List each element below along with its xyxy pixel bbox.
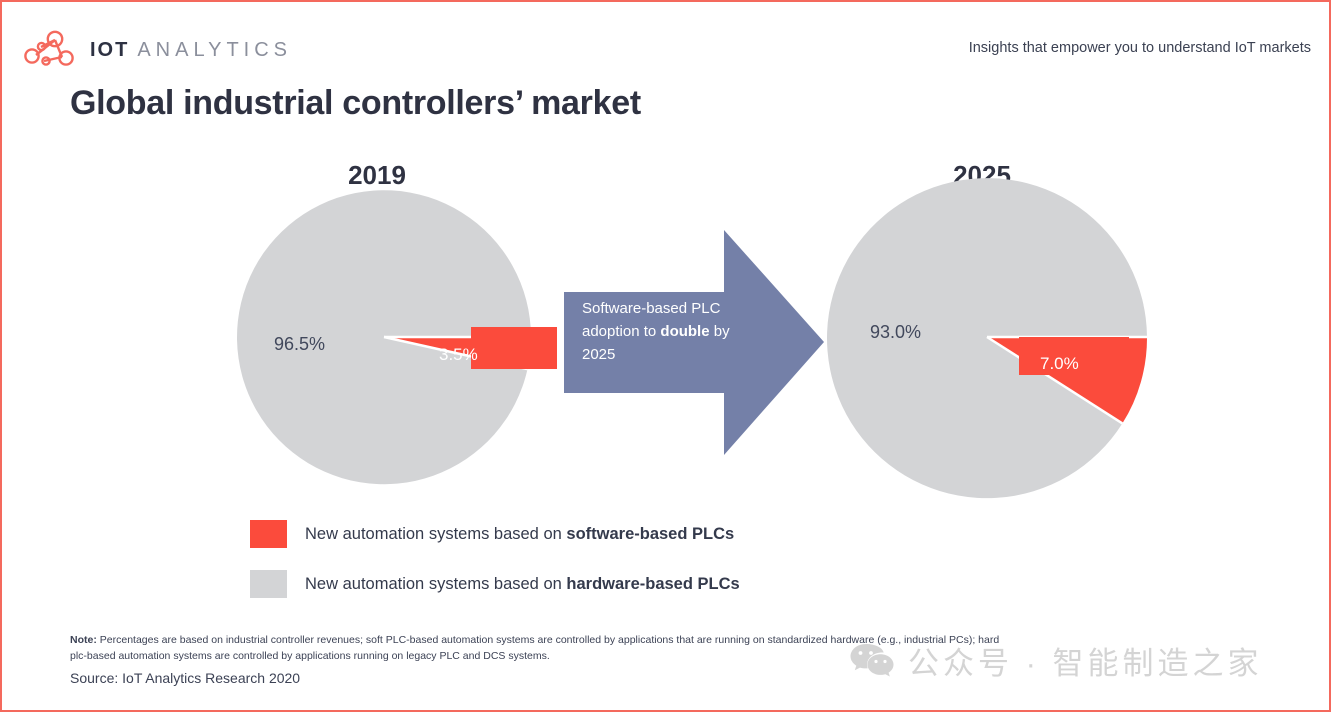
pie-value-software-2025: 7.0% <box>1040 354 1079 374</box>
arrow-line-2-post: by <box>710 323 730 340</box>
arrow-line-3: 2025 <box>582 346 615 363</box>
slide-header: IOTANALYTICS Insights that empower you t… <box>2 2 1329 80</box>
slide-canvas: IOTANALYTICS Insights that empower you t… <box>0 0 1331 712</box>
logo-analytics-text: ANALYTICS <box>137 39 292 61</box>
arrow-line-2-bold: double <box>660 323 709 340</box>
footnote-note-label: Note: <box>70 634 97 646</box>
page-title: Global industrial controllers’ market <box>70 84 641 123</box>
legend-software-bold: software-based PLCs <box>566 525 734 543</box>
arrow-line-2-pre: adoption to <box>582 323 660 340</box>
legend-swatch-hardware <box>250 570 287 598</box>
watermark-text: 公众号 · 智能制造之家 <box>908 638 1263 683</box>
legend-item-software: New automation systems based on software… <box>250 514 740 554</box>
chart-area: 2019 96.5% 3.5% Software-based PLC adopt… <box>2 142 1329 517</box>
header-tagline: Insights that empower you to understand … <box>969 40 1311 56</box>
legend-software-pre: New automation systems based on <box>305 525 566 543</box>
pie-value-hardware-2025: 93.0% <box>870 322 921 343</box>
legend-item-hardware: New automation systems based on hardware… <box>250 564 740 604</box>
pie-chart-2025 <box>807 177 1167 517</box>
arrow-line-1: Software-based PLC <box>582 300 720 317</box>
legend-label-hardware: New automation systems based on hardware… <box>305 575 740 594</box>
pie-value-software-2019: 3.5% <box>439 345 478 365</box>
pie-value-hardware-2019: 96.5% <box>274 334 325 355</box>
brand-logo: IOTANALYTICS <box>22 30 292 70</box>
legend-hardware-bold: hardware-based PLCs <box>566 575 739 593</box>
legend-hardware-pre: New automation systems based on <box>305 575 566 593</box>
arrow-caption: Software-based PLC adoption to double by… <box>582 298 752 366</box>
chart-legend: New automation systems based on software… <box>250 514 740 614</box>
logo-wordmark: IOTANALYTICS <box>90 39 292 62</box>
legend-swatch-software <box>250 520 287 548</box>
transition-arrow: Software-based PLC adoption to double by… <box>564 230 824 455</box>
logo-iot-text: IOT <box>90 39 129 61</box>
wechat-icon <box>850 642 894 680</box>
pie-chart-2019 <box>207 190 557 500</box>
network-nodes-icon <box>22 30 78 70</box>
watermark: 公众号 · 智能制造之家 <box>850 638 1263 683</box>
pie-label-box-2019 <box>471 327 557 369</box>
chart-title-2019: 2019 <box>277 160 477 191</box>
legend-label-software: New automation systems based on software… <box>305 525 734 544</box>
